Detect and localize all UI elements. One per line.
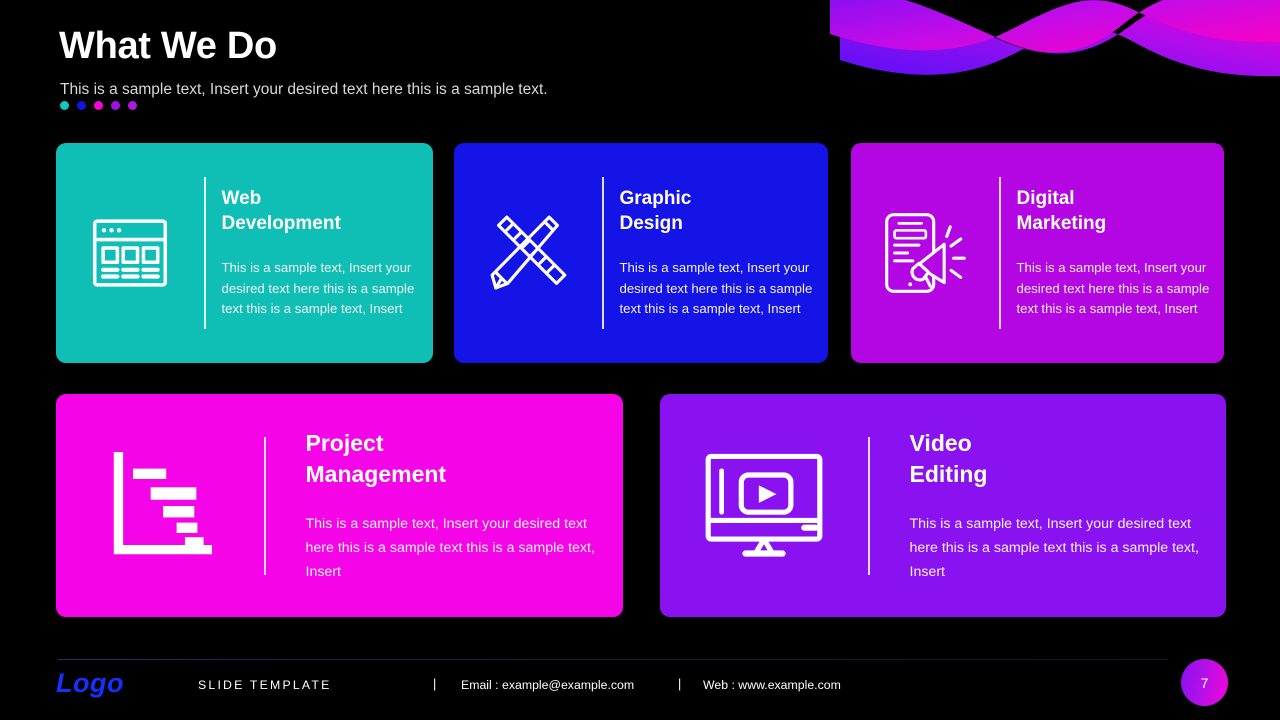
- card-title-line-1: Web: [222, 186, 422, 211]
- card-title-line-1: Video: [910, 428, 1211, 459]
- decorative-dot-1: [60, 101, 69, 110]
- decorative-dot-3: [94, 101, 103, 110]
- card-title-line-2: Development: [222, 211, 422, 236]
- card-title-line-2: Management: [306, 459, 608, 490]
- card-title-line-2: Editing: [910, 459, 1211, 490]
- footer-divider: [58, 659, 1168, 660]
- slide-canvas: What We Do This is a sample text, Insert…: [0, 0, 1280, 720]
- service-card-3[interactable]: DigitalMarketingThis is a sample text, I…: [851, 143, 1224, 363]
- monitor-play-icon: [660, 450, 868, 562]
- card-title: VideoEditing: [910, 428, 1211, 490]
- wave-back-shape: [840, 0, 1280, 76]
- footer-email[interactable]: Email : example@example.com: [461, 678, 634, 692]
- card-title: ProjectManagement: [306, 428, 608, 490]
- card-title-line-2: Marketing: [1017, 211, 1213, 236]
- card-title: GraphicDesign: [620, 186, 817, 236]
- pencil-ruler-icon: [454, 207, 602, 299]
- page-subtitle: This is a sample text, Insert your desir…: [60, 81, 548, 99]
- decorative-dot-4: [111, 101, 120, 110]
- decorative-dot-5: [128, 101, 137, 110]
- footer-slide-template: SLIDE TEMPLATE: [198, 678, 332, 692]
- card-title-line-1: Graphic: [620, 186, 817, 211]
- card-body-text: This is a sample text, Insert your desir…: [1017, 258, 1213, 319]
- service-card-4[interactable]: ProjectManagementThis is a sample text, …: [56, 394, 623, 617]
- service-card-5[interactable]: VideoEditingThis is a sample text, Inser…: [660, 394, 1226, 617]
- browser-window-icon: [56, 211, 204, 295]
- logo[interactable]: Logo: [56, 668, 124, 699]
- service-card-2[interactable]: GraphicDesignThis is a sample text, Inse…: [454, 143, 828, 363]
- card-title: DigitalMarketing: [1017, 186, 1213, 236]
- footer-separator-1: |: [433, 677, 436, 691]
- page-title: What We Do: [59, 27, 277, 65]
- card-title-line-1: Project: [306, 428, 608, 459]
- decorative-dots: [60, 101, 137, 110]
- card-title: WebDevelopment: [222, 186, 422, 236]
- card-body-text: This is a sample text, Insert your desir…: [910, 512, 1211, 584]
- card-body-text: This is a sample text, Insert your desir…: [620, 258, 817, 319]
- gantt-chart-icon: [56, 452, 264, 560]
- footer-website[interactable]: Web : www.example.com: [703, 678, 841, 692]
- card-title-line-2: Design: [620, 211, 817, 236]
- decorative-wave-group: [830, 0, 1280, 92]
- page-number-badge: 7: [1181, 659, 1228, 706]
- wave-front-shape: [830, 0, 1280, 52]
- decorative-dot-2: [77, 101, 86, 110]
- card-title-line-1: Digital: [1017, 186, 1213, 211]
- footer-separator-2: |: [678, 677, 681, 691]
- card-body-text: This is a sample text, Insert your desir…: [306, 512, 608, 584]
- card-body-text: This is a sample text, Insert your desir…: [222, 258, 422, 319]
- wave-svg: [830, 0, 1280, 92]
- phone-megaphone-icon: [851, 209, 999, 297]
- service-card-1[interactable]: WebDevelopmentThis is a sample text, Ins…: [56, 143, 433, 363]
